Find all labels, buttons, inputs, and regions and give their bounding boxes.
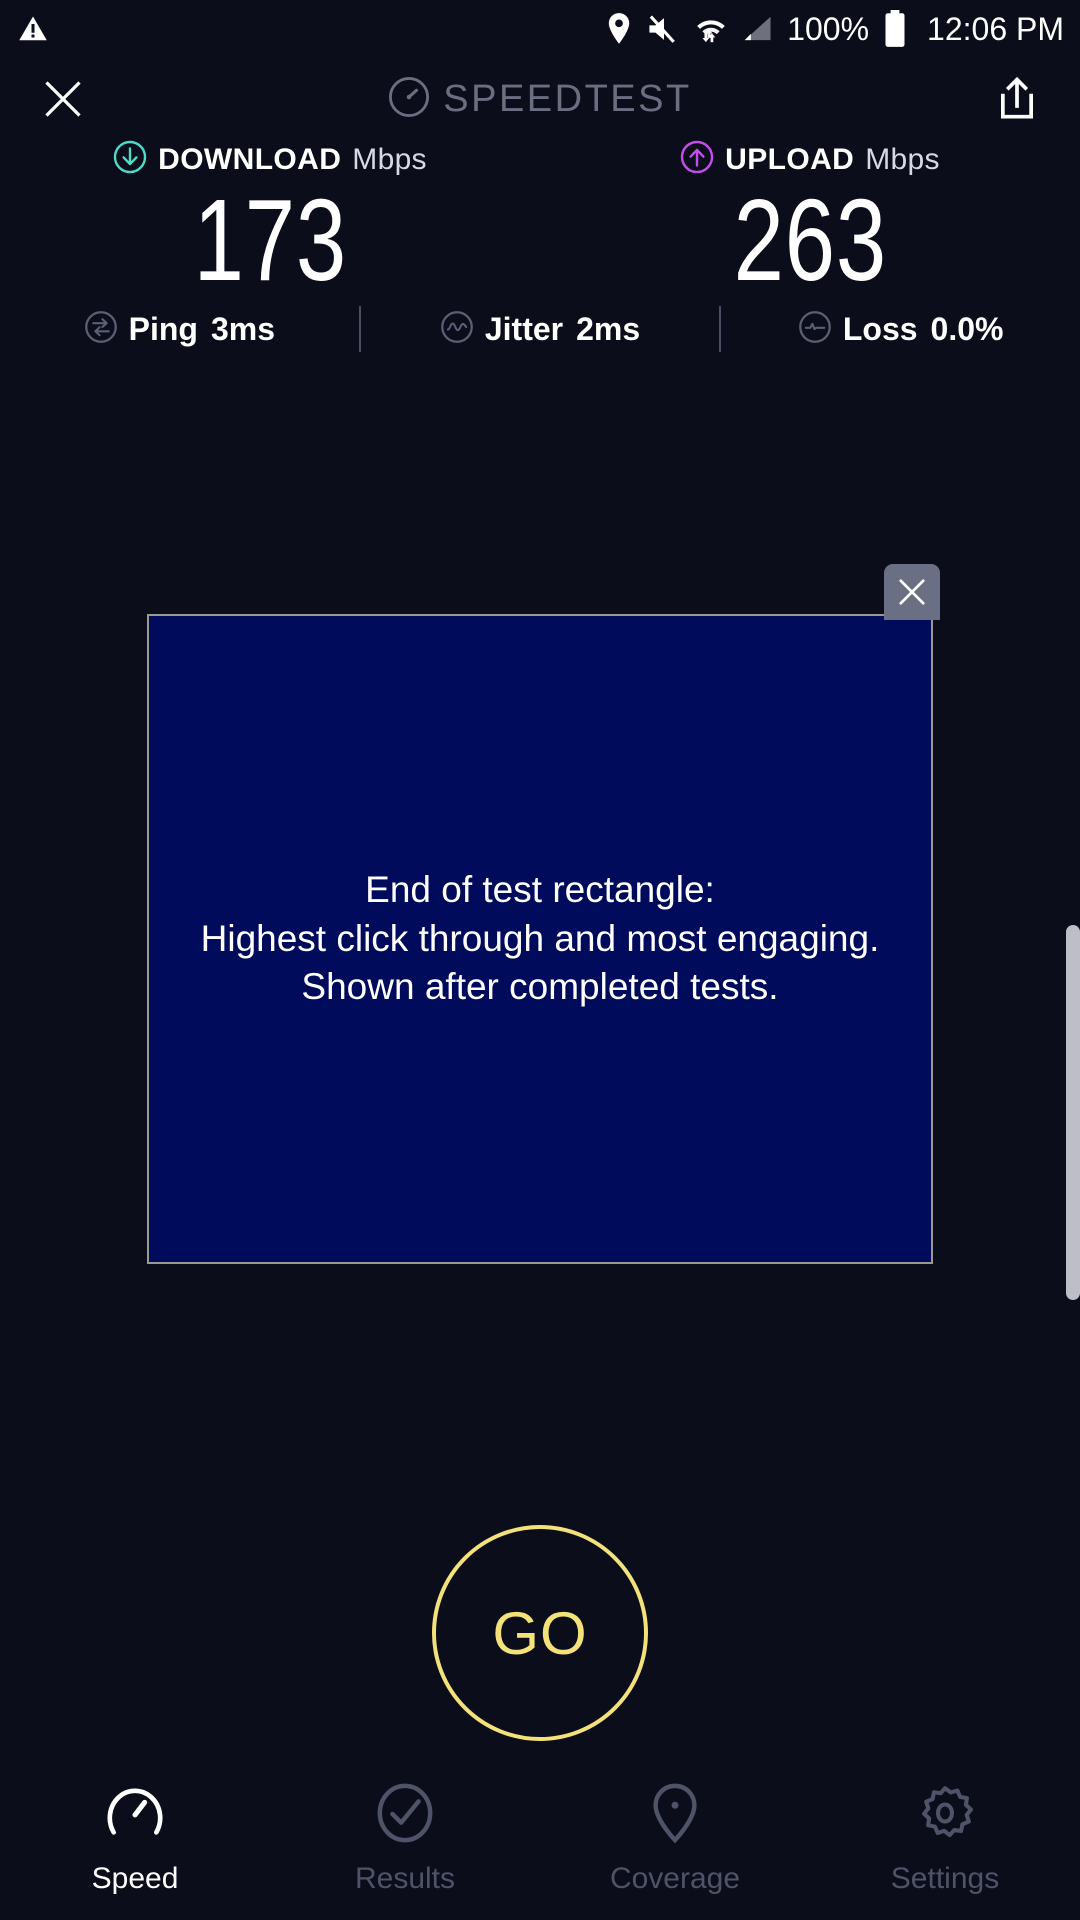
upload-label: UPLOAD [725,143,854,177]
share-button[interactable] [988,70,1046,128]
status-bar-left [18,14,48,44]
gear-icon [914,1782,976,1849]
status-bar-right: 100% 12:06 PM [605,10,1064,48]
upload-arrow-icon [680,140,714,179]
bottom-navigation: Speed Results Coverage [0,1768,1080,1920]
close-test-button[interactable] [34,70,92,128]
download-unit: Mbps [352,143,427,177]
nav-item-settings[interactable]: Settings [810,1782,1080,1896]
stat-loss: Loss 0.0% [721,310,1080,349]
app-header: SPEEDTEST [0,58,1080,140]
speed-row: DOWNLOAD Mbps 173 UPLOAD Mbps 263 [0,140,1080,299]
map-pin-icon [644,1782,706,1849]
nav-label-coverage: Coverage [610,1862,740,1896]
upload-unit: Mbps [865,143,940,177]
upload-result: UPLOAD Mbps 263 [540,140,1080,299]
stat-ping: Ping 3ms [0,310,359,349]
ad-close-button[interactable] [884,564,940,620]
nav-label-results: Results [355,1862,455,1896]
nav-item-speed[interactable]: Speed [0,1782,270,1896]
go-button[interactable]: GO [432,1525,648,1741]
connection-stats-row: Ping 3ms Jitter 2ms Loss 0.0 [0,298,1080,360]
warning-triangle-icon [18,14,48,44]
ping-value: 3ms [211,311,275,348]
speed-results: DOWNLOAD Mbps 173 UPLOAD Mbps 263 [0,140,1080,299]
nav-item-results[interactable]: Results [270,1782,540,1896]
download-label: DOWNLOAD [158,143,341,177]
cellular-signal-icon [741,14,773,44]
go-button-wrapper: GO [0,1525,1080,1741]
loss-label: Loss [843,311,918,348]
brand-logo: SPEEDTEST [92,76,988,123]
status-bar: 100% 12:06 PM [0,0,1080,58]
go-button-label: GO [492,1599,587,1668]
vertical-scrollbar-thumb[interactable] [1066,925,1080,1300]
upload-label-row: UPLOAD Mbps [680,140,940,179]
check-circle-icon [374,1782,436,1849]
upload-value: 263 [733,181,886,299]
stat-jitter: Jitter 2ms [361,310,720,349]
location-pin-icon [605,12,633,46]
nav-label-speed: Speed [92,1862,179,1896]
nav-item-coverage[interactable]: Coverage [540,1782,810,1896]
advertisement-banner[interactable]: End of test rectangle: Highest click thr… [147,614,933,1264]
wifi-icon [695,13,727,45]
nav-label-settings: Settings [891,1862,999,1896]
ad-text: End of test rectangle: Highest click thr… [201,866,880,1012]
download-label-row: DOWNLOAD Mbps [113,140,427,179]
speedometer-icon [388,76,430,123]
jitter-value: 2ms [576,311,640,348]
download-arrow-icon [113,140,147,179]
ping-label: Ping [129,311,198,348]
speedtest-app-screen: 100% 12:06 PM SP [0,0,1080,1920]
brand-title: SPEEDTEST [443,78,691,121]
download-result: DOWNLOAD Mbps 173 [0,140,540,299]
mute-icon [647,14,681,44]
speedometer-icon [104,1782,166,1849]
loss-value: 0.0% [931,311,1004,348]
battery-percent-label: 100% [787,11,869,48]
loss-icon [798,310,832,349]
jitter-icon [440,310,474,349]
download-value: 173 [193,181,346,299]
status-bar-clock: 12:06 PM [927,11,1064,48]
battery-full-icon [883,10,907,48]
jitter-label: Jitter [485,311,563,348]
ping-icon [84,310,118,349]
